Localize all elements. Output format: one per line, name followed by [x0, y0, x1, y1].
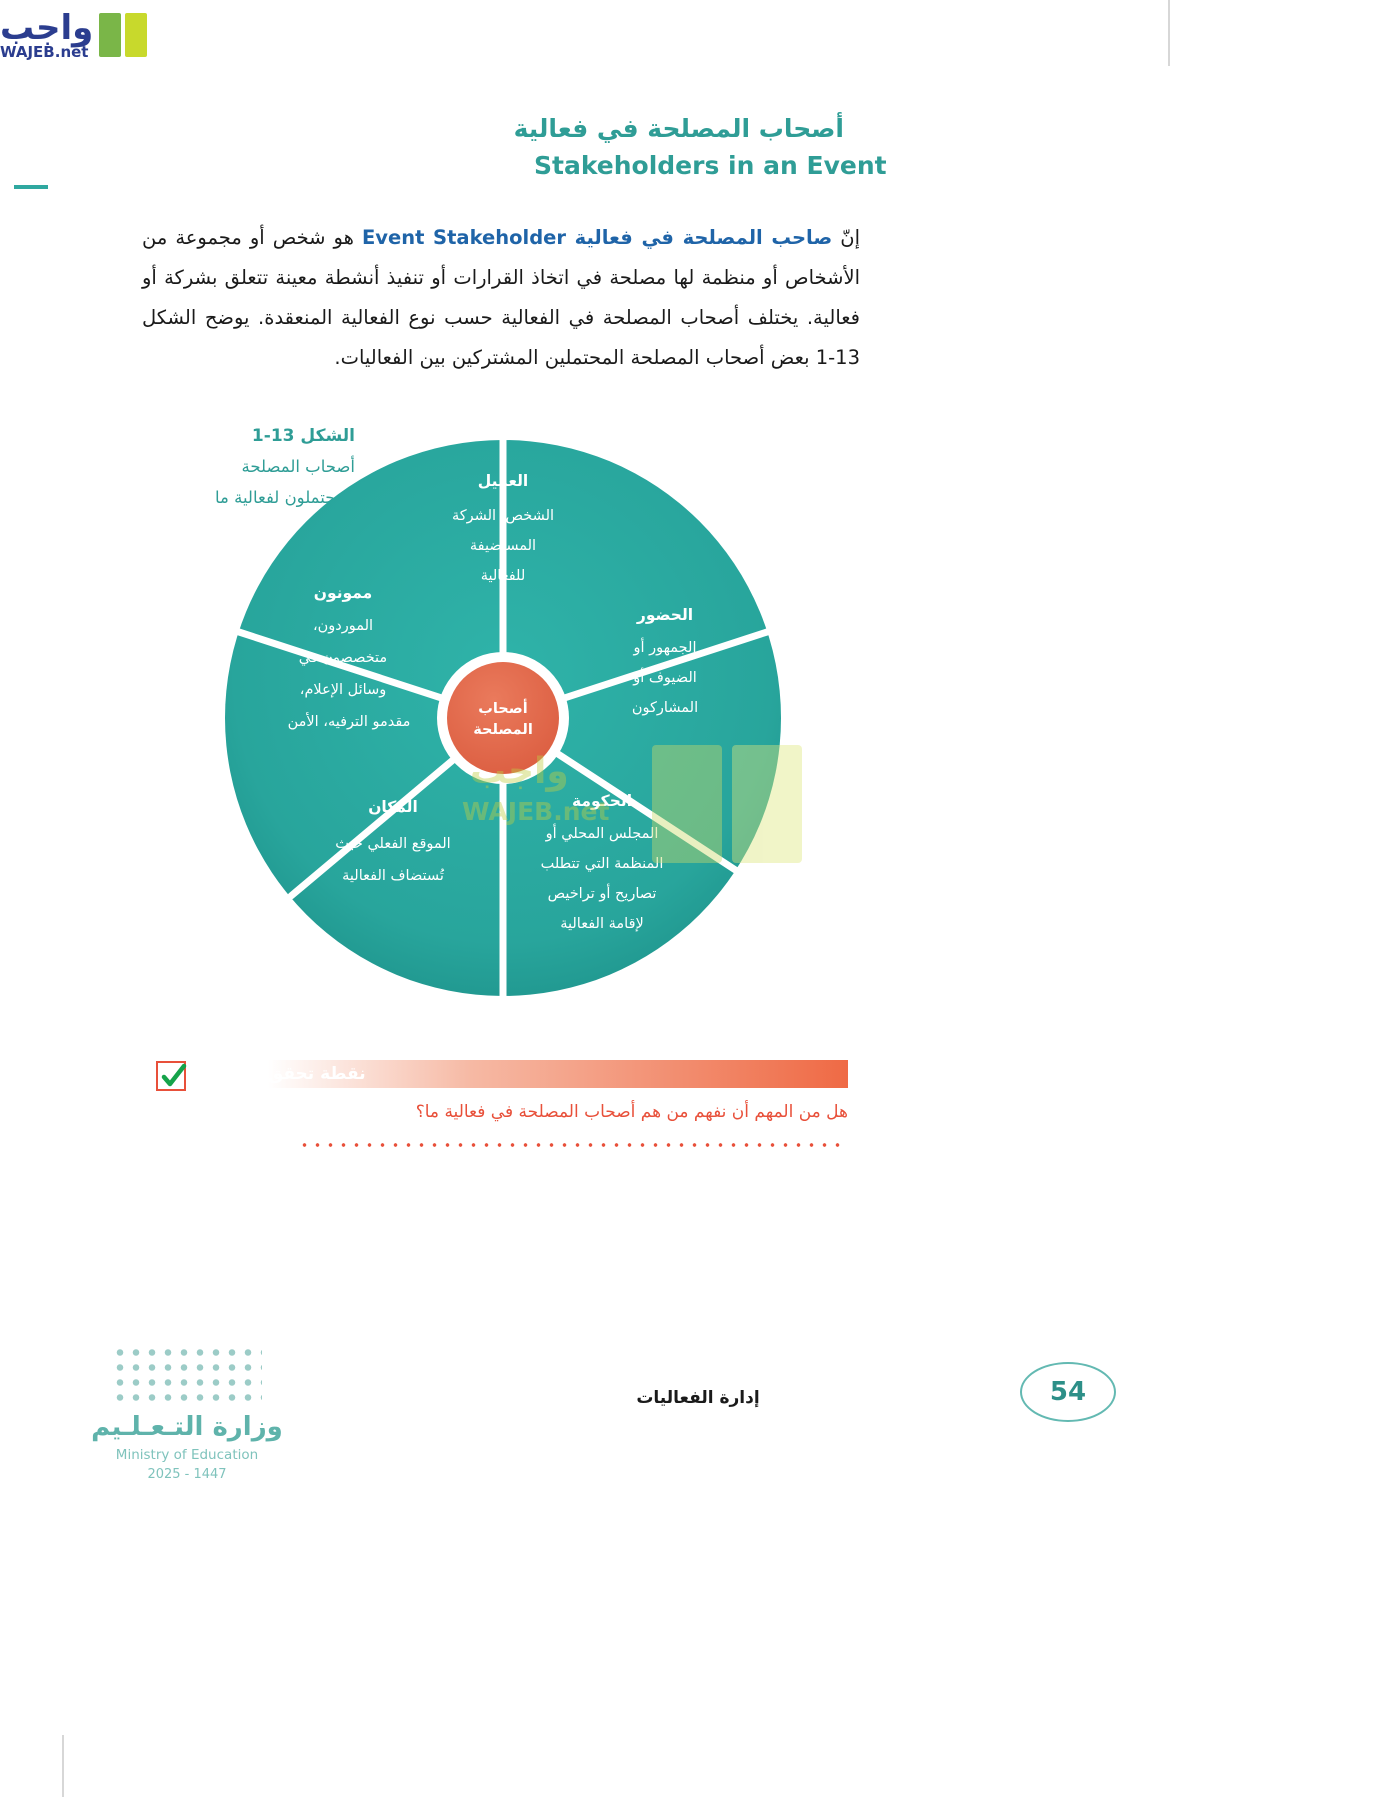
segment-line-suppliers-1: الموردون، [313, 618, 373, 634]
segment-line-government-3: تصاريح أو تراخيص [548, 883, 657, 902]
segment-line-venue-2: تُستضاف الفعالية [342, 868, 444, 884]
segment-line-government-2: المنظمة التي تتطلب [541, 856, 664, 872]
margin-rule-bottom-left [62, 1735, 64, 1797]
section-heading: أصحاب المصلحة في فعالية Stakeholders in … [534, 112, 844, 186]
segment-line-attendees-3: المشاركون [632, 700, 698, 716]
segment-line-client-1: الشخص/ الشركة [452, 508, 554, 524]
margin-rule-top-right [1168, 0, 1170, 66]
segment-line-client-3: للفعالية [481, 568, 526, 584]
center-label-line2: المصلحة [473, 722, 533, 738]
checkpoint-checkbox[interactable] [156, 1061, 186, 1091]
stakeholders-pie-chart: أصحاب المصلحة العميل الشخص/ الشركة المست… [213, 428, 793, 1008]
ministry-year: 2025 - 1447 [72, 1465, 302, 1485]
paragraph-lead: إنّ [840, 226, 860, 249]
wajeb-wordmark: واجب [0, 11, 93, 45]
segment-title-attendees: الحضور [636, 606, 693, 624]
segment-line-venue-1: الموقع الفعلي حيث [335, 836, 450, 852]
ministry-name-english: Ministry of Education [72, 1445, 302, 1465]
checkpoint-banner: نقطة تحقق [268, 1060, 848, 1088]
ministry-name-arabic: وزارة التـعـلـيم [72, 1411, 302, 1445]
segment-title-government: الحكومة [572, 792, 632, 810]
segment-line-attendees-2: الضيوف أو [632, 667, 697, 686]
footer-subject: إدارة الفعاليات [0, 1388, 1396, 1408]
margin-rule-left [14, 185, 48, 189]
page-number: 54 [1050, 1377, 1086, 1407]
segment-line-attendees-1: الجمهور أو [632, 637, 696, 656]
textbook-page: واجب WAJEB.net أصحاب المصلحة في فعالية S… [0, 0, 1396, 1800]
wajeb-watermark-logo: واجب WAJEB.net [0, 4, 190, 66]
center-label-line1: أصحاب [478, 699, 527, 717]
book-icon [99, 13, 147, 57]
paragraph-keyword: صاحب المصلحة في فعالية Event Stakeholder [362, 226, 832, 249]
body-paragraph: إنّ صاحب المصلحة في فعالية Event Stakeho… [142, 218, 860, 378]
center-circle [447, 662, 559, 774]
checkpoint-dotted-rule [298, 1142, 848, 1148]
segment-title-client: العميل [478, 472, 528, 490]
segment-title-suppliers: ممونون [314, 584, 372, 602]
segment-title-venue: المكان [368, 798, 418, 816]
segment-line-client-2: المستضيفة [470, 538, 536, 554]
checkpoint-label: نقطة تحقق [268, 1064, 366, 1084]
segment-line-suppliers-2: متخصصون في [299, 650, 387, 666]
segment-line-government-1: المجلس المحلي أو [545, 823, 659, 842]
segment-line-government-4: لإقامة الفعالية [560, 916, 644, 932]
wajeb-domain: WAJEB.net [0, 45, 93, 60]
page-title-arabic: أصحاب المصلحة في فعالية [534, 112, 844, 146]
page-title-english: Stakeholders in an Event [534, 146, 844, 186]
segment-line-suppliers-4: مقدمو الترفيه، الأمن [288, 712, 411, 730]
checkpoint-callout: نقطة تحقق هل من المهم أن نفهم من هم أصحا… [148, 1060, 848, 1160]
check-icon [160, 1062, 188, 1092]
checkpoint-question: هل من المهم أن نفهم من هم أصحاب المصلحة … [268, 1102, 848, 1122]
ministry-logo: وزارة التـعـلـيم Ministry of Education 2… [72, 1345, 302, 1485]
page-number-badge: 54 [1020, 1362, 1116, 1422]
segment-line-suppliers-3: وسائل الإعلام، [300, 682, 386, 698]
